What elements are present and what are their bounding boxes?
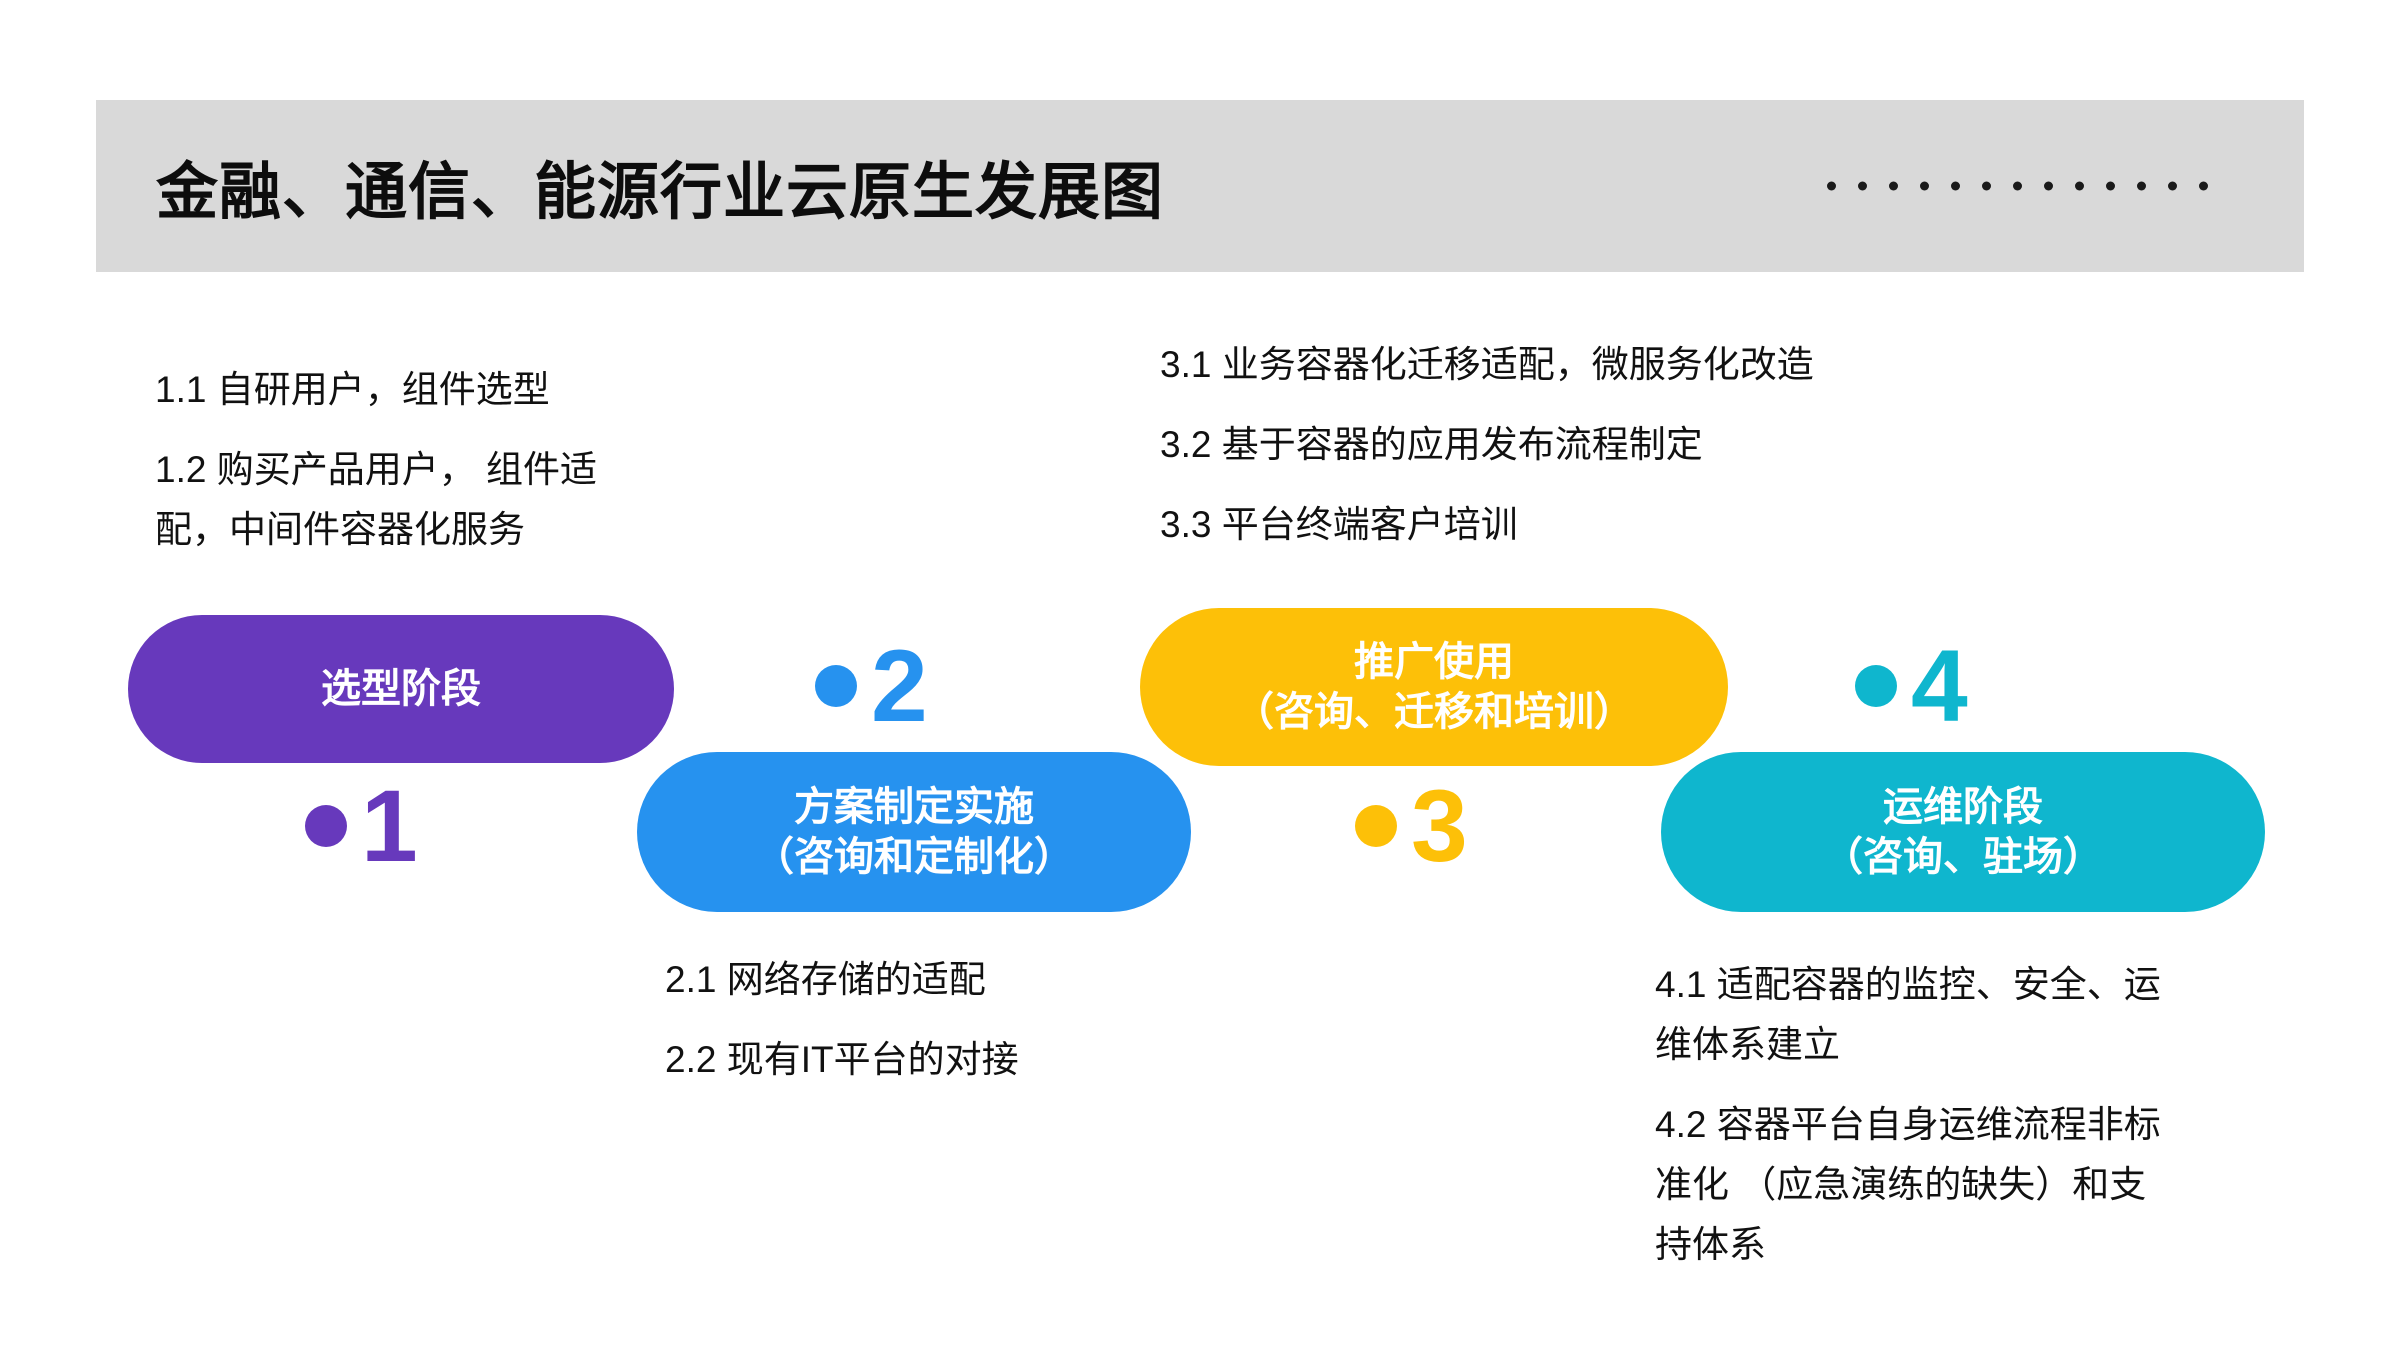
stage-badge-1: 1 xyxy=(305,775,417,877)
note-line: 准化 （应急演练的缺失）和支 xyxy=(1655,1155,2315,1215)
stage-3-notes: 3.1 业务容器化迁移适配，微服务化改造3.2 基于容器的应用发布流程制定3.3… xyxy=(1160,335,2060,555)
stage-badge-number: 1 xyxy=(361,775,417,877)
stage-pill-label-line: 推广使用 xyxy=(1354,637,1514,687)
bullet-dot-icon xyxy=(815,665,857,707)
stage-4-notes: 4.1 适配容器的监控、安全、运维体系建立4.2 容器平台自身运维流程非标准化 … xyxy=(1655,955,2315,1275)
decor-dot-icon xyxy=(2106,182,2115,191)
header-decor-dots xyxy=(1827,182,2208,191)
decor-dot-icon xyxy=(2013,182,2022,191)
stage-badge-3: 3 xyxy=(1355,775,1467,877)
bullet-dot-icon xyxy=(305,805,347,847)
stage-pill-2[interactable]: 方案制定实施（咨询和定制化） xyxy=(637,752,1191,912)
stage-badge-number: 4 xyxy=(1911,635,1967,737)
decor-dot-icon xyxy=(1827,182,1836,191)
decor-dot-icon xyxy=(2137,182,2146,191)
note-paragraph: 1.2 购买产品用户， 组件适配，中间件容器化服务 xyxy=(155,440,775,560)
bullet-dot-icon xyxy=(1855,665,1897,707)
decor-dot-icon xyxy=(1858,182,1867,191)
decor-dot-icon xyxy=(2199,182,2208,191)
stage-pill-1[interactable]: 选型阶段 xyxy=(128,615,674,763)
note-paragraph: 1.1 自研用户，组件选型 xyxy=(155,360,775,420)
note-line: 1.1 自研用户，组件选型 xyxy=(155,360,775,420)
decor-dot-icon xyxy=(1982,182,1991,191)
decor-dot-icon xyxy=(1951,182,1960,191)
stage-badge-2: 2 xyxy=(815,635,927,737)
note-paragraph: 4.1 适配容器的监控、安全、运维体系建立 xyxy=(1655,955,2315,1075)
stage-badge-number: 3 xyxy=(1411,775,1467,877)
decor-dot-icon xyxy=(1889,182,1898,191)
decor-dot-icon xyxy=(2168,182,2177,191)
stage-pill-label-line: （咨询和定制化） xyxy=(754,832,1074,882)
page-title: 金融、通信、能源行业云原生发展图 xyxy=(156,141,1164,231)
note-line: 2.1 网络存储的适配 xyxy=(665,950,1285,1010)
note-line: 4.2 容器平台自身运维流程非标 xyxy=(1655,1095,2315,1155)
stage-pill-label-line: （咨询、迁移和培训） xyxy=(1234,687,1634,737)
stage-pill-label-line: 选型阶段 xyxy=(321,664,481,714)
stage-pill-label-line: 运维阶段 xyxy=(1883,782,2043,832)
note-paragraph: 3.2 基于容器的应用发布流程制定 xyxy=(1160,415,2060,475)
note-line: 2.2 现有IT平台的对接 xyxy=(665,1030,1285,1090)
stage-pill-label-line: 方案制定实施 xyxy=(794,782,1034,832)
bullet-dot-icon xyxy=(1355,805,1397,847)
note-line: 3.3 平台终端客户培训 xyxy=(1160,495,2060,555)
stage-badge-number: 2 xyxy=(871,635,927,737)
decor-dot-icon xyxy=(2044,182,2053,191)
stage-pill-3[interactable]: 推广使用（咨询、迁移和培训） xyxy=(1140,608,1728,766)
stage-1-notes: 1.1 自研用户，组件选型1.2 购买产品用户， 组件适配，中间件容器化服务 xyxy=(155,360,775,560)
note-paragraph: 4.2 容器平台自身运维流程非标准化 （应急演练的缺失）和支持体系 xyxy=(1655,1095,2315,1275)
note-line: 持体系 xyxy=(1655,1215,2315,1275)
decor-dot-icon xyxy=(1920,182,1929,191)
note-paragraph: 3.3 平台终端客户培训 xyxy=(1160,495,2060,555)
stage-badge-4: 4 xyxy=(1855,635,1967,737)
stage-pill-4[interactable]: 运维阶段（咨询、驻场） xyxy=(1661,752,2265,912)
note-paragraph: 2.2 现有IT平台的对接 xyxy=(665,1030,1285,1090)
note-line: 维体系建立 xyxy=(1655,1015,2315,1075)
note-paragraph: 2.1 网络存储的适配 xyxy=(665,950,1285,1010)
note-line: 3.2 基于容器的应用发布流程制定 xyxy=(1160,415,2060,475)
note-line: 3.1 业务容器化迁移适配，微服务化改造 xyxy=(1160,335,2060,395)
stage-pill-label-line: （咨询、驻场） xyxy=(1823,832,2103,882)
note-line: 配，中间件容器化服务 xyxy=(155,500,775,560)
note-paragraph: 3.1 业务容器化迁移适配，微服务化改造 xyxy=(1160,335,2060,395)
decor-dot-icon xyxy=(2075,182,2084,191)
header-band: 金融、通信、能源行业云原生发展图 xyxy=(96,100,2304,272)
note-line: 1.2 购买产品用户， 组件适 xyxy=(155,440,775,500)
stage-2-notes: 2.1 网络存储的适配2.2 现有IT平台的对接 xyxy=(665,950,1285,1090)
note-line: 4.1 适配容器的监控、安全、运 xyxy=(1655,955,2315,1015)
